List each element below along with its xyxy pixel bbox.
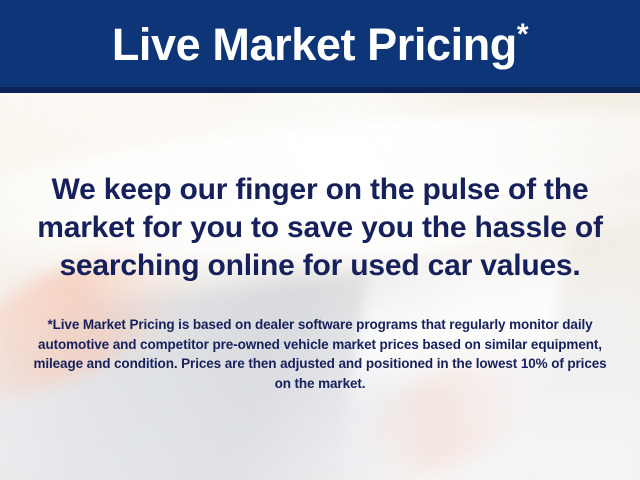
disclaimer-text: *Live Market Pricing is based on dealer … bbox=[25, 315, 615, 393]
page-title-text: Live Market Pricing bbox=[112, 19, 517, 70]
header-banner: Live Market Pricing* bbox=[0, 0, 640, 93]
page-title: Live Market Pricing* bbox=[112, 22, 528, 71]
live-market-pricing-card: Live Market Pricing* We keep our finger … bbox=[0, 0, 640, 480]
footnote-marker: * bbox=[517, 18, 528, 51]
content-area: We keep our finger on the pulse of the m… bbox=[0, 93, 640, 480]
headline-text: We keep our finger on the pulse of the m… bbox=[20, 171, 620, 285]
